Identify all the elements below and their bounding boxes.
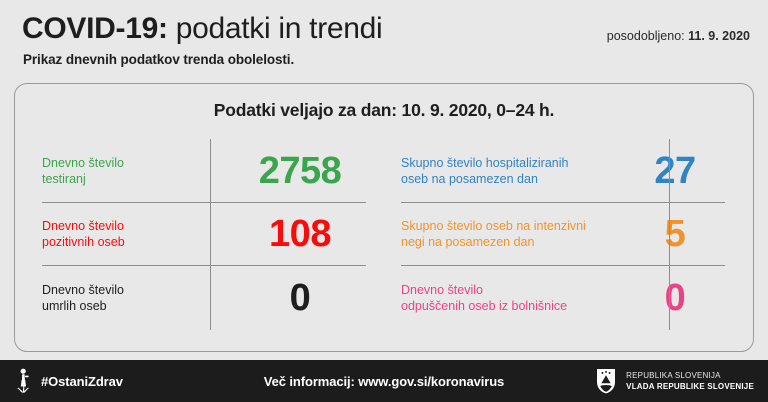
government-name: REPUBLIKA SLOVENIJA VLADA REPUBLIKE SLOV… [626, 370, 754, 392]
last-updated: posodobljeno: 11. 9. 2020 [607, 29, 750, 43]
page-header: COVID-19: podatki in trendi Prikaz dnevn… [0, 0, 768, 83]
page-title: COVID-19: podatki in trendi [22, 12, 382, 46]
government-branding: REPUBLIKA SLOVENIJA VLADA REPUBLIKE SLOV… [595, 360, 754, 402]
stats-grid: Dnevno število testiranj 2758 Dnevno šte… [15, 140, 753, 329]
stat-label-line1: Dnevno število [401, 283, 483, 297]
stats-column-left: Dnevno število testiranj 2758 Dnevno šte… [15, 140, 384, 329]
stat-label-daily-deaths: Dnevno število umrlih oseb [42, 282, 234, 314]
slovenia-coat-of-arms-icon [595, 368, 617, 394]
page-title-rest: podatki in trendi [168, 12, 383, 45]
page-footer: #OstaniZdrav Več informacij: www.gov.si/… [0, 360, 768, 402]
stat-row-divider [669, 202, 670, 266]
stat-row-daily-deaths: Dnevno število umrlih oseb 0 [42, 266, 366, 329]
stat-label-line1: Dnevno število [42, 283, 124, 297]
stat-row-hospitalized: Skupno število hospitaliziranih oseb na … [401, 140, 725, 203]
stat-label-daily-positive: Dnevno število pozitivnih oseb [42, 218, 234, 250]
last-updated-label: posodobljeno: [607, 29, 685, 43]
stay-healthy-figure-icon [14, 368, 32, 394]
stats-column-right: Skupno število hospitaliziranih oseb na … [384, 140, 753, 329]
stats-card: Podatki veljajo za dan: 10. 9. 2020, 0–2… [14, 83, 754, 352]
stat-label-line2: testiranj [42, 172, 86, 186]
stat-row-discharged: Dnevno število odpuščenih oseb iz bolniš… [401, 266, 725, 329]
stat-value-daily-deaths: 0 [234, 279, 366, 317]
stat-label-hospitalized: Skupno število hospitaliziranih oseb na … [401, 155, 625, 187]
last-updated-date: 11. 9. 2020 [688, 29, 750, 43]
stat-label-line1: Skupno število oseb na intenzivni [401, 219, 586, 233]
stat-label-line2: oseb na posamezen dan [401, 172, 538, 186]
government-name-line1: REPUBLIKA SLOVENIJA [626, 370, 754, 381]
stat-row-divider [210, 139, 211, 203]
stat-row-daily-positive: Dnevno število pozitivnih oseb 108 [42, 203, 366, 266]
stat-value-daily-tested: 2758 [234, 152, 366, 190]
stat-label-line2: pozitivnih oseb [42, 235, 125, 249]
stat-value-daily-positive: 108 [234, 215, 366, 253]
stat-row-intensive-care: Skupno število oseb na intenzivni negi n… [401, 203, 725, 266]
stat-row-divider [210, 202, 211, 266]
stat-row-divider [210, 265, 211, 330]
stat-label-discharged: Dnevno število odpuščenih oseb iz bolniš… [401, 282, 625, 314]
stat-value-discharged: 0 [625, 279, 725, 317]
stat-value-intensive-care: 5 [625, 215, 725, 253]
stat-label-daily-tested: Dnevno število testiranj [42, 155, 234, 187]
stat-row-daily-tested: Dnevno število testiranj 2758 [42, 140, 366, 203]
stat-label-line2: umrlih oseb [42, 299, 107, 313]
card-heading: Podatki veljajo za dan: 10. 9. 2020, 0–2… [15, 100, 753, 121]
stay-healthy-hashtag: #OstaniZdrav [41, 374, 123, 389]
stat-value-hospitalized: 27 [625, 152, 725, 190]
footer-campaign: #OstaniZdrav [14, 360, 123, 402]
stat-label-line1: Dnevno število [42, 156, 124, 170]
stat-row-divider [669, 139, 670, 203]
government-name-line2: VLADA REPUBLIKE SLOVENIJE [626, 381, 754, 392]
stat-label-line2: odpuščenih oseb iz bolnišnice [401, 299, 567, 313]
page-subtitle: Prikaz dnevnih podatkov trenda obolelost… [23, 52, 294, 67]
stat-row-divider [669, 265, 670, 330]
stat-label-line1: Dnevno število [42, 219, 124, 233]
stat-label-line1: Skupno število hospitaliziranih [401, 156, 568, 170]
stat-label-line2: negi na posamezen dan [401, 235, 534, 249]
stat-label-intensive-care: Skupno število oseb na intenzivni negi n… [401, 218, 625, 250]
page-title-strong: COVID-19: [22, 12, 168, 45]
